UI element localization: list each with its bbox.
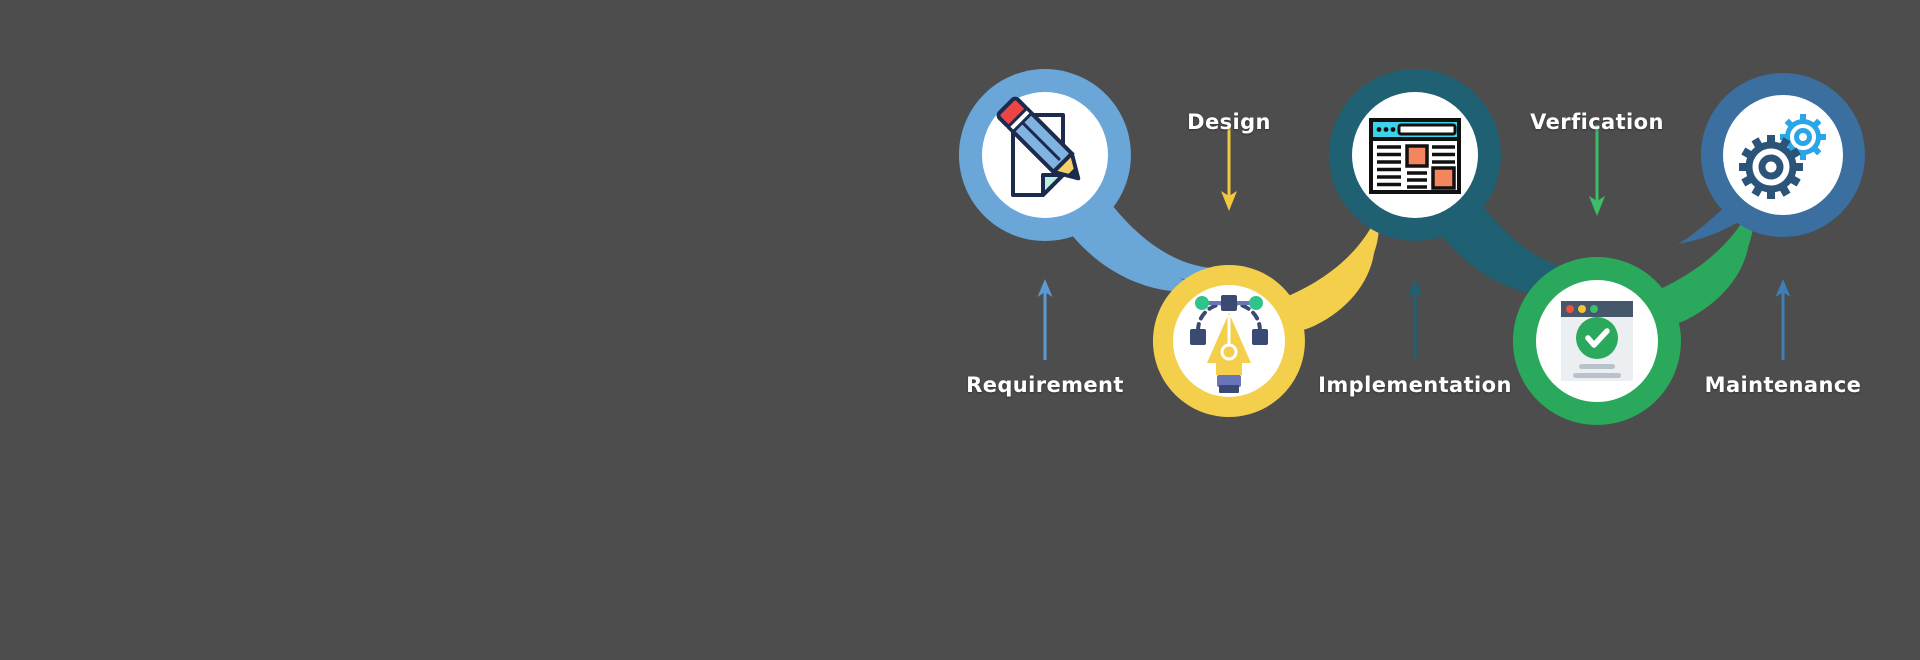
browser-check-icon: [1561, 301, 1633, 381]
arrow-verification: [1589, 125, 1605, 216]
arrow-implementation: [1408, 279, 1423, 360]
stage-label-verification: Verfication: [1530, 110, 1664, 134]
stage-label-design: Design: [1187, 110, 1271, 134]
stage-label-implementation: Implementation: [1318, 373, 1512, 397]
diagram-canvas: Requirement Design Implementation Verfic…: [0, 0, 1920, 660]
webpage-layout-icon: [1371, 120, 1459, 192]
arrow-maintenance: [1776, 279, 1791, 360]
arrow-requirement: [1038, 279, 1053, 360]
arrow-design: [1221, 125, 1237, 211]
process-flow-graphic: [0, 0, 1920, 660]
stage-label-requirement: Requirement: [966, 373, 1124, 397]
node-blob-requirement[interactable]: [959, 69, 1232, 292]
stage-label-maintenance: Maintenance: [1705, 373, 1862, 397]
